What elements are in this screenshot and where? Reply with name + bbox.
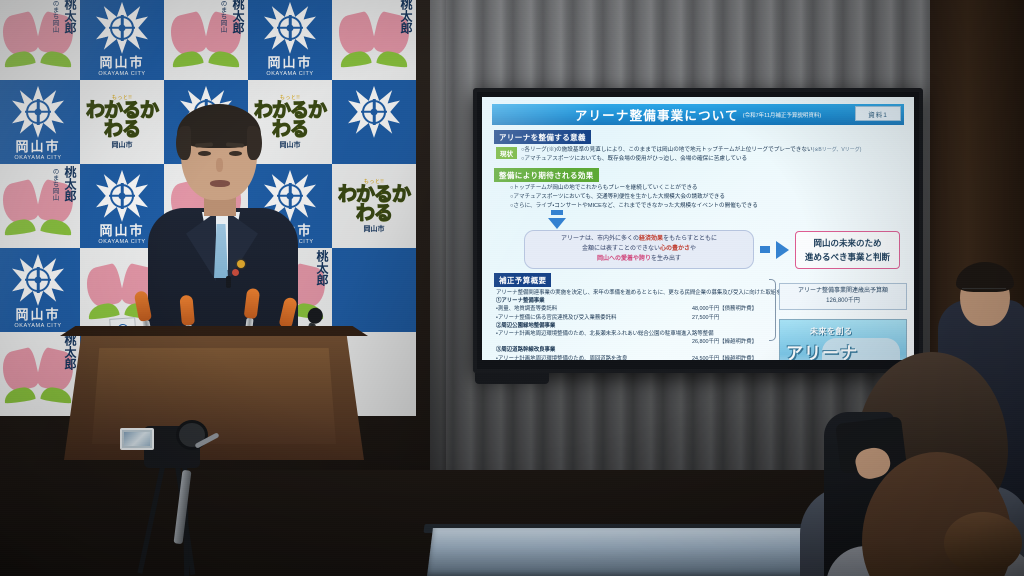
emblem-caption: 岡山市 OKAYAMA CITY [0, 308, 80, 329]
wakaru-kawaru-logo: もっと!! わかるかわる 岡山市 [332, 178, 416, 234]
camera-lcd-preview [124, 432, 150, 446]
monitor-screen[interactable]: アリーナ整備事業について (令和7年11月補正予算説明資料) 資料1 アリーナを… [482, 97, 914, 360]
okayama-emblem-icon [96, 2, 148, 54]
backdrop-tile-emblem [332, 80, 416, 164]
speaker-mouth [210, 180, 230, 187]
slide-section-heading-budget: 補正予算概要 [494, 273, 551, 287]
conclusion-box: 岡山の未来のため 進めるべき事業と判断 [795, 231, 900, 269]
speaker-nose [216, 158, 223, 172]
effect-bullet-list: ○トップチームが岡山の地でこれからもプレーを継続していくことができる ○アマチュ… [490, 184, 906, 210]
right-arrow-stem [760, 246, 770, 253]
tripod-video-camera [120, 418, 240, 576]
table-documents [879, 518, 992, 546]
peach-logo-sublabel: のまち岡山 [51, 0, 58, 33]
speaker-hair-left [176, 126, 191, 160]
down-arrow-stem [551, 210, 563, 215]
okayama-emblem-icon [348, 86, 400, 138]
backdrop-tile-emblem [332, 248, 416, 332]
slide-section-heading-effects: 整備により期待される効果 [494, 168, 599, 182]
backdrop-tile-emblem: 岡山市 OKAYAMA CITY [80, 0, 164, 80]
slide-conclusion-row: アリーナは、市内外に多くの経済効果をもたらすとともに 金額には表すことのできない… [490, 230, 906, 269]
okayama-emblem-icon [96, 170, 148, 222]
backdrop-tile-emblem: 岡山市 OKAYAMA CITY [0, 248, 80, 332]
backdrop-tile-peach: 桃太郎 のまち岡山 [0, 0, 80, 80]
backdrop-tile-peach: 桃太郎 のまち岡山 [0, 164, 80, 248]
slide-title: アリーナ整備事業について [575, 105, 739, 124]
peach-logo-label: 桃太郎 [302, 250, 328, 286]
peach-logo-sublabel: のまち岡山 [51, 168, 58, 201]
slide-title-bar: アリーナ整備事業について (令和7年11月補正予算説明資料) 資料1 [492, 104, 904, 125]
thumbnail-line1: 未来を創る [810, 326, 853, 337]
table-reflection [479, 542, 740, 550]
backdrop-tile-emblem: 岡山市 OKAYAMA CITY [248, 0, 332, 80]
arena-promo-thumbnail: 未来を創る アリーナ 岡山 [779, 319, 907, 360]
camera-lens-icon [176, 420, 208, 450]
microphone-head-icon [179, 295, 195, 326]
speaker-lapel-pin-gold [237, 260, 245, 268]
speaker-eye-right [229, 151, 242, 156]
emblem-caption: 岡山市 OKAYAMA CITY [248, 56, 332, 77]
budget-total-box: アリーナ整備事業関連歳出予算額 126,800千円 [779, 283, 907, 310]
slide-section-heading-significance: アリーナを整備する意義 [494, 130, 591, 144]
effect-summary-box: アリーナは、市内外に多くの経済効果をもたらすとともに 金額には表すことのできない… [524, 230, 754, 269]
budget-total-value: 126,800千円 [782, 297, 904, 307]
wood-wall-panel [930, 0, 1024, 470]
emblem-caption: 岡山市 OKAYAMA CITY [0, 140, 80, 161]
speaker-eye-left [198, 151, 211, 156]
status-bullet-list: ○各リーグ(※)の施設基準の見直しにより、このままでは岡山の地で地元トップチーム… [521, 146, 861, 163]
monitor-stand [475, 373, 549, 384]
peach-logo-label: 桃太郎 [386, 0, 412, 34]
backdrop-tile-peach: 桃太郎 [332, 0, 416, 80]
backdrop-tile-wakaru: もっと!! わかるかわる 岡山市 [332, 164, 416, 248]
lavalier-mic-icon [226, 276, 231, 288]
budget-total-label: アリーナ整備事業関連歳出予算額 [782, 287, 904, 297]
okayama-emblem-icon [12, 86, 64, 138]
podium-top-edge [60, 326, 368, 336]
right-arrow-icon [776, 241, 789, 259]
backdrop-tile-peach: 桃太郎 [0, 332, 80, 416]
budget-brace [769, 279, 776, 341]
slide-content: アリーナ整備事業について (令和7年11月補正予算説明資料) 資料1 アリーナを… [482, 97, 914, 360]
thumbnail-line2: アリーナ [786, 339, 858, 360]
status-tag-badge: 現状 [496, 147, 517, 159]
speaker-lapel-pin-red [232, 269, 239, 276]
emblem-caption: 岡山市 OKAYAMA CITY [80, 56, 164, 77]
speaker-hair-right [247, 126, 262, 160]
okayama-emblem-icon [12, 254, 64, 306]
down-arrow-icon [548, 218, 566, 229]
backdrop-tile-peach: 桃太郎 のまち岡山 [164, 0, 248, 80]
press-conference-scene: 桃太郎 のまち岡山 岡山市 OKAYAMA CITY 桃太郎 [0, 0, 1024, 576]
document-number-badge: 資料1 [855, 106, 901, 121]
peach-logo-sublabel: のまち岡山 [219, 0, 226, 33]
camera-lcd-screen [120, 428, 154, 450]
presentation-monitor[interactable]: アリーナ整備事業について (令和7年11月補正予算説明資料) 資料1 アリーナを… [473, 88, 923, 373]
peach-logo-label: 桃太郎 [50, 334, 76, 370]
front-table [427, 528, 903, 576]
okayama-emblem-icon [264, 2, 316, 54]
slide-status-row: 現状 ○各リーグ(※)の施設基準の見直しにより、このままでは岡山の地で地元トップ… [490, 146, 906, 163]
slide-title-subtitle: (令和7年11月補正予算説明資料) [743, 111, 821, 119]
backdrop-tile-emblem: 岡山市 OKAYAMA CITY [0, 80, 80, 164]
